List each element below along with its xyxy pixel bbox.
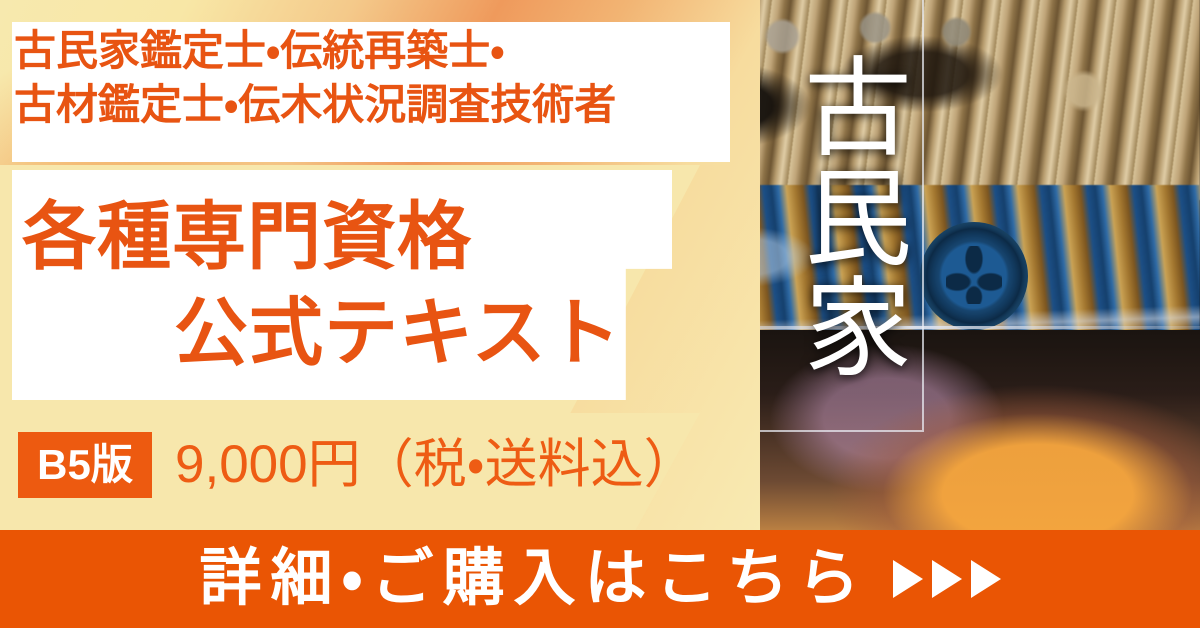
cta-bar[interactable]: 詳細・ご購入はこちら bbox=[0, 530, 1200, 628]
main-title-line-1: 各種専門資格 bbox=[22, 200, 472, 274]
promo-banner: 伝統構法 古民家活用のための調査と再生の 古民家 古民家鑑定士・伝統再築士・ 古… bbox=[0, 0, 1200, 628]
headline-line-2: 古材鑑定士・伝木状況調査技術者 bbox=[14, 84, 616, 126]
price-text: 9,000円（税・送料込） bbox=[175, 434, 697, 496]
book-cover-title: 古民家 bbox=[790, 6, 910, 426]
headline-line-1: 古民家鑑定士・伝統再築士・ bbox=[14, 30, 505, 72]
play-arrow-icon bbox=[893, 560, 923, 598]
play-arrow-icon bbox=[971, 560, 1001, 598]
format-badge-b5: B5版 bbox=[18, 432, 152, 498]
play-arrow-icon bbox=[932, 560, 962, 598]
cta-label: 詳細・ご購入はこちら bbox=[199, 548, 868, 610]
cta-arrows bbox=[893, 560, 1001, 598]
main-title-line-2: 公式テキスト bbox=[174, 296, 622, 370]
family-crest-medallion bbox=[920, 222, 1028, 330]
